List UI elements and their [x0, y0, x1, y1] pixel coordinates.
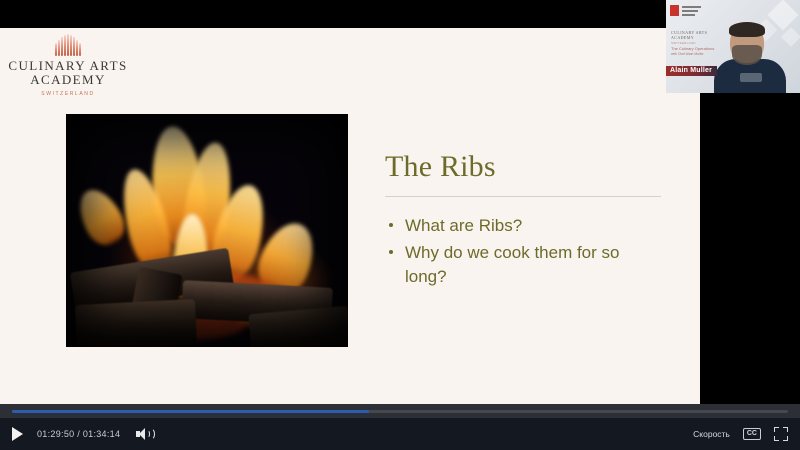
presenter-video [714, 21, 792, 93]
webcam-logo-line-2: ACADEMY [671, 35, 717, 40]
list-item: What are Ribs? [385, 214, 661, 239]
logo-line-2: ACADEMY [8, 73, 128, 87]
logo-line-1: CULINARY ARTS [8, 59, 128, 73]
seek-progress [12, 410, 369, 413]
seek-bar[interactable] [0, 404, 800, 418]
presenter-name-label: Alain Muller [666, 66, 717, 76]
list-item: Why do we cook them for so long? [385, 241, 661, 290]
playback-speed-button[interactable]: Скорость [693, 429, 730, 439]
webcam-logo-line-3: SWITZERLAND [671, 41, 717, 45]
exit-fullscreen-icon[interactable] [774, 427, 788, 441]
seek-track[interactable] [12, 410, 788, 413]
logo-line-3: SWITZERLAND [8, 91, 128, 97]
volume-icon[interactable] [136, 427, 152, 441]
academy-logo: CULINARY ARTS ACADEMY SWITZERLAND [8, 30, 128, 97]
campfire-photo [66, 114, 348, 347]
captions-button[interactable]: CC [743, 428, 761, 440]
play-icon[interactable] [12, 427, 23, 441]
player-controls: 01:29:50 / 01:34:14 Скорость CC [0, 418, 800, 450]
time-display: 01:29:50 / 01:34:14 [37, 429, 120, 439]
video-player: CULINARY ARTS ACADEMY SWITZERLAND The Ri… [0, 0, 800, 450]
slide-title: The Ribs [385, 150, 496, 184]
swiss-education-group-logo-icon [670, 4, 704, 18]
comb-lines-icon [8, 30, 128, 56]
title-divider [385, 196, 661, 197]
slide-stage: CULINARY ARTS ACADEMY SWITZERLAND The Ri… [0, 28, 700, 418]
webcam-overlay[interactable]: CULINARY ARTS ACADEMY SWITZERLAND The Cu… [666, 0, 800, 93]
webcam-academy-logo: CULINARY ARTS ACADEMY SWITZERLAND [671, 30, 717, 45]
bullet-list: What are Ribs? Why do we cook them for s… [385, 214, 661, 292]
